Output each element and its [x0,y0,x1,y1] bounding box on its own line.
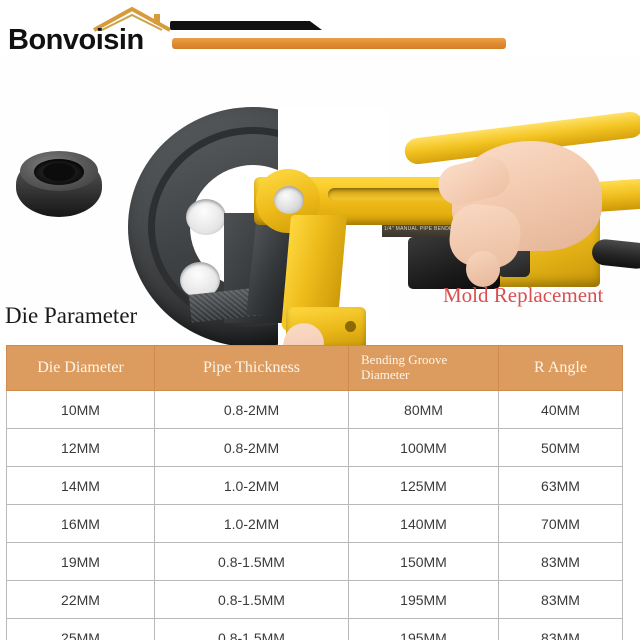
die-parameter-table: Die Diameter Pipe Thickness Bending Groo… [6,345,623,640]
cell-bending-groove-diameter: 100MM [349,429,499,467]
cell-die-diameter: 19MM [7,543,155,581]
cell-pipe-thickness: 1.0-2MM [155,467,349,505]
cell-pipe-thickness: 0.8-1.5MM [155,619,349,640]
cell-pipe-thickness: 0.8-1.5MM [155,581,349,619]
table-header-row: Die Diameter Pipe Thickness Bending Groo… [7,346,623,391]
cell-bending-groove-diameter: 125MM [349,467,499,505]
brand-name: Bonvoisin [8,24,144,57]
cell-pipe-thickness: 0.8-2MM [155,429,349,467]
table-row: 10MM0.8-2MM80MM40MM [7,391,623,429]
cell-die-diameter: 25MM [7,619,155,640]
roller-bore [43,163,75,181]
column-header-bending-groove-diameter: Bending Groove Diameter [349,346,499,391]
cell-r-angle: 83MM [499,581,623,619]
cell-bending-groove-diameter: 150MM [349,543,499,581]
table-row: 12MM0.8-2MM100MM50MM [7,429,623,467]
cell-r-angle: 50MM [499,429,623,467]
cell-r-angle: 63MM [499,467,623,505]
cell-bending-groove-diameter: 80MM [349,391,499,429]
cell-pipe-thickness: 0.8-1.5MM [155,543,349,581]
hand-thumb-tip [466,251,500,287]
cell-die-diameter: 14MM [7,467,155,505]
table-row: 25MM0.8-1.5MM195MM83MM [7,619,623,640]
table-row: 16MM1.0-2MM140MM70MM [7,505,623,543]
cell-bending-groove-diameter: 140MM [349,505,499,543]
table-row: 19MM0.8-1.5MM150MM83MM [7,543,623,581]
decorative-bar-black [170,21,322,30]
cell-bending-groove-diameter: 195MM [349,619,499,640]
lever-foot-hole [345,321,356,332]
cell-r-angle: 83MM [499,543,623,581]
cell-bending-groove-diameter: 195MM [349,581,499,619]
cell-r-angle: 40MM [499,391,623,429]
cell-pipe-thickness: 1.0-2MM [155,505,349,543]
cell-die-diameter: 16MM [7,505,155,543]
column-header-pipe-thickness: Pipe Thickness [155,346,349,391]
cell-die-diameter: 10MM [7,391,155,429]
loose-roller-die [16,147,102,227]
product-spec-page: Bonvoisin 1/4" MANUAL PI [0,0,640,640]
brand-logo: Bonvoisin [8,18,178,60]
mold-replacement-caption: Mold Replacement [443,283,603,308]
cell-pipe-thickness: 0.8-2MM [155,391,349,429]
column-header-die-diameter: Die Diameter [7,346,155,391]
die-parameter-caption: Die Parameter [5,303,137,329]
cell-die-diameter: 22MM [7,581,155,619]
table-row: 22MM0.8-1.5MM195MM83MM [7,581,623,619]
cell-r-angle: 70MM [499,505,623,543]
cell-r-angle: 83MM [499,619,623,640]
column-header-r-angle: R Angle [499,346,623,391]
table-row: 14MM1.0-2MM125MM63MM [7,467,623,505]
lever-pivot-hole [274,186,304,214]
die-hole-upper [186,199,226,235]
cell-die-diameter: 12MM [7,429,155,467]
decorative-bar-orange [172,38,506,49]
product-photo: 1/4" MANUAL PIPE BENDER [0,55,640,320]
